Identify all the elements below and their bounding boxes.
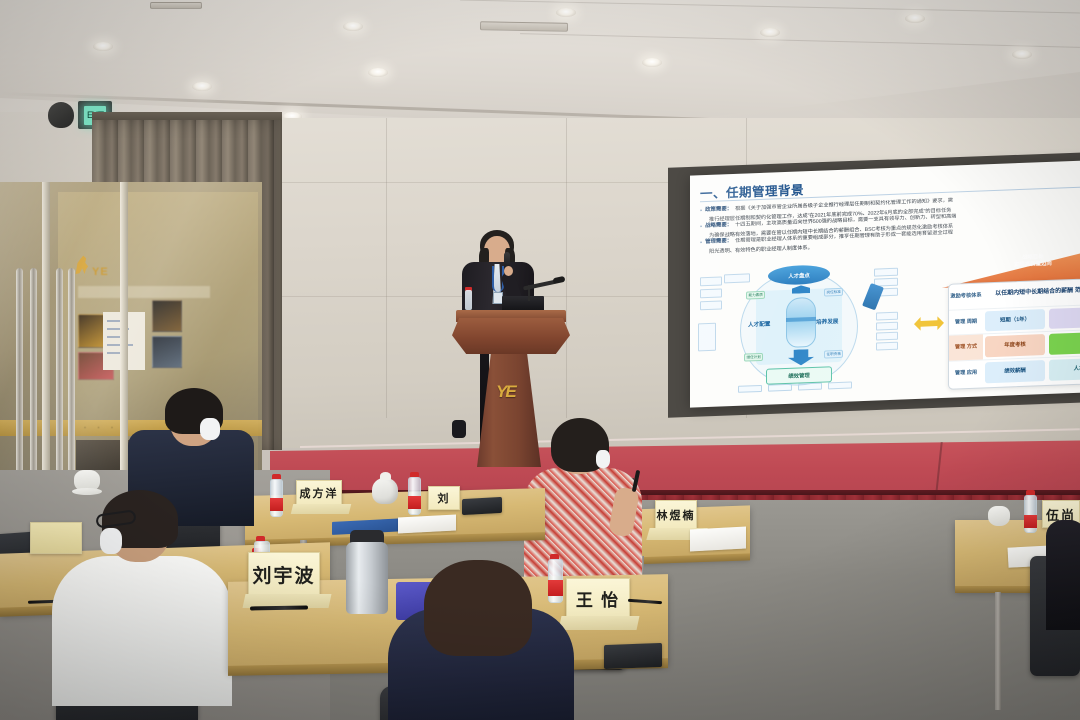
ceiling-downlight	[905, 14, 925, 23]
ceiling-downlight	[556, 8, 576, 17]
cycle-center-vessel	[786, 297, 816, 348]
ceiling-downlight	[343, 22, 363, 31]
bottle-label	[270, 498, 283, 511]
conference-room-scene: EXIT YE · · · · ·	[0, 0, 1080, 720]
cycle-tag: 岗位标准	[824, 288, 843, 297]
closed-laptop[interactable]	[462, 497, 502, 515]
cycle-tag: 任职资格	[824, 350, 843, 359]
teacup	[988, 506, 1010, 526]
bullet-label: 政策需要：	[705, 206, 732, 215]
name-placard: 林煜楠	[655, 500, 697, 530]
name-placard	[30, 522, 82, 554]
ceiling-downlight	[368, 68, 388, 77]
attendee-body	[52, 556, 232, 706]
bottle-label	[408, 496, 421, 509]
name-placard: 王 怡	[566, 578, 630, 618]
table-row: 管理 应用 绩效薪酬 人才	[949, 355, 1080, 387]
thermos-flask	[346, 542, 388, 614]
presenter-hand	[504, 266, 513, 276]
table-leg	[995, 592, 1001, 710]
podium-top	[452, 318, 570, 354]
cycle-tag: 能力素质	[746, 291, 765, 300]
table-row-label: 激励考核体系	[949, 283, 983, 309]
bullet-label: 管理需要：	[705, 238, 732, 247]
bullet-dash-icon: ▪	[700, 223, 702, 231]
table-row-label: 管理 方式	[949, 334, 983, 360]
face-mask	[596, 450, 610, 468]
table-cell: 人才	[1049, 357, 1080, 381]
ceiling-downlight	[93, 42, 113, 51]
ac-vent	[480, 21, 568, 32]
teapot	[372, 478, 398, 504]
teapot-lid	[380, 472, 391, 480]
bottle-label	[548, 580, 563, 596]
cycle-blue-chip-icon	[862, 283, 884, 310]
cycle-node-right: 培养发展	[816, 317, 838, 326]
cycle-tag: 继任计划	[744, 353, 763, 362]
teacup-saucer	[72, 488, 102, 495]
bullet-label: 战略需要：	[705, 222, 732, 231]
bullet-dash-icon: ▪	[700, 239, 702, 247]
name-placard: 成方洋	[296, 480, 342, 506]
document-sheet	[398, 514, 456, 533]
attendee-partial	[452, 420, 466, 438]
ac-vent	[150, 2, 202, 9]
ceiling-downlight	[642, 58, 662, 67]
ceiling-downlight	[760, 28, 780, 37]
document-sheet	[690, 527, 746, 552]
table-cell	[1049, 306, 1080, 329]
podium-bottle	[465, 290, 472, 310]
attendee-hair	[424, 560, 532, 656]
bottle-label	[1024, 515, 1037, 528]
table-header-value: 以任期内短中长期结合的薪酬 范化激励	[983, 279, 1080, 308]
placard-base	[559, 616, 640, 630]
attendee-body	[1046, 520, 1080, 630]
table-row-label: 管理 应用	[949, 360, 983, 387]
cycle-node-left: 人才配置	[748, 320, 770, 329]
closed-laptop[interactable]	[604, 643, 662, 669]
ceiling-speaker-icon	[48, 102, 74, 128]
table-cell: 短期（1年）	[985, 309, 1045, 332]
table-cell: 年度考核	[985, 334, 1045, 357]
talent-cycle-diagram: 人才盘点 人才配置 培养发展 绩效管理 能力素质 岗位标准 继任计划 任职资格	[698, 259, 908, 397]
bidirectional-arrow-icon	[914, 314, 944, 333]
ceiling-downlight	[192, 82, 212, 91]
projection-screen: 一、任期管理背景 ▪ 政策需要： 根据《关于加强市管企业所属各级子企业推行经理层…	[690, 160, 1080, 407]
face-mask	[200, 418, 220, 440]
ceiling-downlight	[1012, 50, 1032, 59]
cycle-node-bottom: 绩效管理	[766, 366, 832, 385]
table-row-label: 管理 周期	[949, 309, 983, 335]
table-cell: 绩效薪酬	[985, 360, 1045, 384]
face-mask	[100, 528, 122, 554]
podium-logo: YE	[496, 382, 522, 402]
name-placard: 刘宇波	[248, 552, 320, 596]
bullet-dash-icon: ▪	[700, 207, 702, 215]
name-placard: 刘	[428, 486, 460, 510]
roof-banner-text: 战略目标 实现高质量迈向	[1014, 254, 1052, 270]
table-cell	[1049, 332, 1080, 355]
placard-base	[291, 504, 351, 514]
slide-bullets: ▪ 政策需要： 根据《关于加强市管企业所属各级子企业推行经理层任期制和契约化管理…	[700, 193, 1080, 256]
incentive-table: 激励考核体系 以任期内短中长期结合的薪酬 范化激励 管理 周期 短期（1年） 管…	[948, 277, 1080, 389]
roof-banner-line2: 实现高质量迈向	[1014, 261, 1052, 270]
